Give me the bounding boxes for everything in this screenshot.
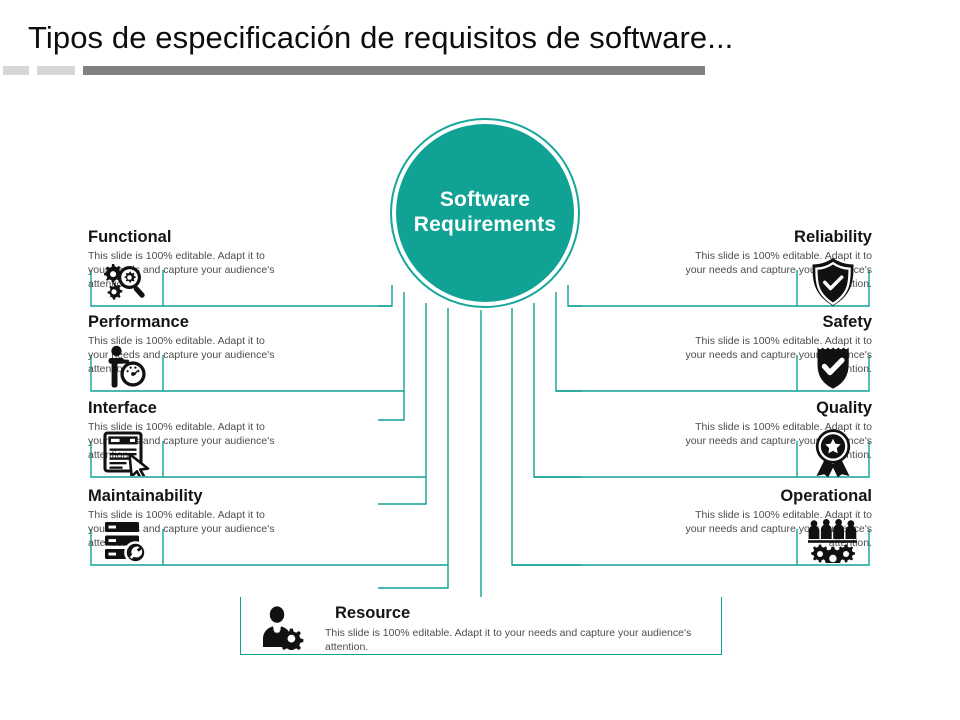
- person-gauge-icon: [91, 331, 163, 403]
- item-maintainability-title: Maintainability: [88, 487, 203, 506]
- gears-magnifier-icon: [91, 246, 163, 318]
- center-circle-label: Software Requirements: [414, 188, 556, 238]
- wire-right-1: [556, 292, 582, 391]
- businessman-gear-icon: [252, 602, 314, 654]
- people-gears-icon: [797, 505, 869, 577]
- document-cursor-icon: [91, 417, 163, 489]
- item-interface-title: Interface: [88, 399, 157, 418]
- wire-right-2: [534, 303, 582, 477]
- shield-check-outline-icon: [797, 246, 869, 318]
- wire-right-3: [512, 308, 582, 565]
- shield-check-solid-icon: [797, 331, 869, 403]
- item-resource-body: This slide is 100% editable. Adapt it to…: [325, 627, 725, 655]
- slide-canvas: Tipos de especificación de requisitos de…: [0, 0, 960, 720]
- item-functional-title: Functional: [88, 228, 171, 247]
- award-medal-icon: [797, 417, 869, 489]
- item-performance-title: Performance: [88, 313, 189, 332]
- center-label-line1: Software: [440, 188, 530, 211]
- center-circle: Software Requirements: [396, 124, 574, 302]
- wire-right-0: [568, 285, 582, 306]
- wire-left-3: [378, 308, 448, 588]
- item-safety-title: Safety: [822, 313, 872, 332]
- wire-left-2: [378, 303, 426, 504]
- server-wrench-icon: [91, 505, 163, 577]
- item-resource-title: Resource: [335, 604, 410, 623]
- item-quality-title: Quality: [816, 399, 872, 418]
- item-reliability-title: Reliability: [794, 228, 872, 247]
- wire-left-1: [378, 292, 404, 420]
- item-operational-title: Operational: [780, 487, 872, 506]
- center-label-line2: Requirements: [414, 213, 556, 236]
- wire-left-0: [378, 285, 392, 306]
